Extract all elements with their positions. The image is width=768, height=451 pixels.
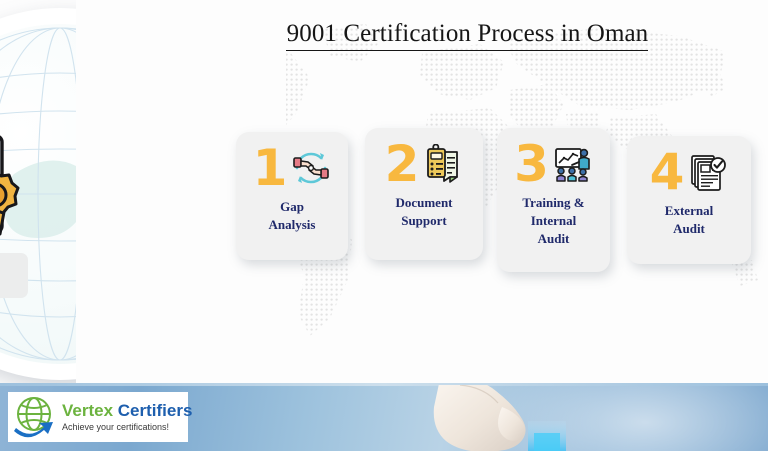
brand-name: Vertex Certifiers — [62, 401, 192, 421]
step-label-line2: Audit — [665, 220, 713, 238]
step-label-line3: Audit — [522, 230, 584, 248]
step-label: Gap Analysis — [263, 194, 322, 234]
step-label-line1: External — [665, 202, 713, 220]
step-card-external-audit[interactable]: 4 — [627, 136, 751, 264]
step-label-line2: Internal — [522, 212, 584, 230]
brand-tagline: Achieve your certifications! — [62, 421, 192, 433]
step-number: 4 — [650, 147, 685, 197]
step-number: 2 — [385, 139, 420, 189]
clipboard-document-icon — [423, 144, 463, 184]
step-label: Training & Internal Audit — [516, 190, 590, 248]
footer-banner: Vertex Certifiers Achieve your certifica… — [0, 383, 768, 451]
slide-canvas: ISO 9001 Certification Process in Oman — [0, 0, 768, 451]
step-card-training-internal-audit[interactable]: 3 — [497, 128, 610, 272]
step-label-line1: Training & — [522, 194, 584, 212]
step-label-line1: Gap — [269, 198, 316, 216]
step-card-header: 3 — [497, 128, 610, 190]
hero-caption-line2: Certification — [0, 275, 24, 291]
brand-logo[interactable]: Vertex Certifiers Achieve your certifica… — [8, 392, 188, 442]
globe-arrow-icon — [12, 394, 58, 440]
step-label-line2: Analysis — [269, 216, 316, 234]
hand-touching-screen — [430, 385, 640, 451]
step-card-gap-analysis[interactable]: 1 Gap Analysi — [236, 132, 348, 260]
step-label-line1: Document — [395, 194, 452, 212]
step-card-header: 2 — [365, 128, 483, 190]
step-card-header: 4 — [627, 136, 751, 198]
step-label-line2: Support — [395, 212, 452, 230]
footer-divider — [0, 383, 768, 386]
documents-check-icon — [688, 152, 728, 192]
step-label: Document Support — [389, 190, 458, 230]
certificate-seal-icon — [0, 126, 22, 244]
brand-name-part2: Certifiers — [118, 401, 193, 420]
step-card-document-support[interactable]: 2 — [365, 128, 483, 260]
hero-caption-line1: ISO 9001 — [0, 259, 24, 275]
brand-logo-text: Vertex Certifiers Achieve your certifica… — [58, 401, 192, 433]
page-title-text: ISO 9001 Certification Process in Oman — [240, 20, 649, 51]
step-label: External Audit — [659, 198, 719, 238]
training-presentation-icon — [553, 144, 593, 184]
brand-name-part1: Vertex — [62, 401, 113, 420]
hero-caption: ISO 9001 Certification — [0, 253, 28, 298]
step-number: 3 — [514, 139, 549, 189]
hero-globe-panel: ISO 9001 Certification — [0, 8, 240, 380]
step-card-header: 1 — [236, 132, 348, 194]
handshake-icon — [291, 148, 331, 188]
process-steps: 1 Gap Analysi — [232, 128, 762, 278]
step-number: 1 — [253, 143, 288, 193]
